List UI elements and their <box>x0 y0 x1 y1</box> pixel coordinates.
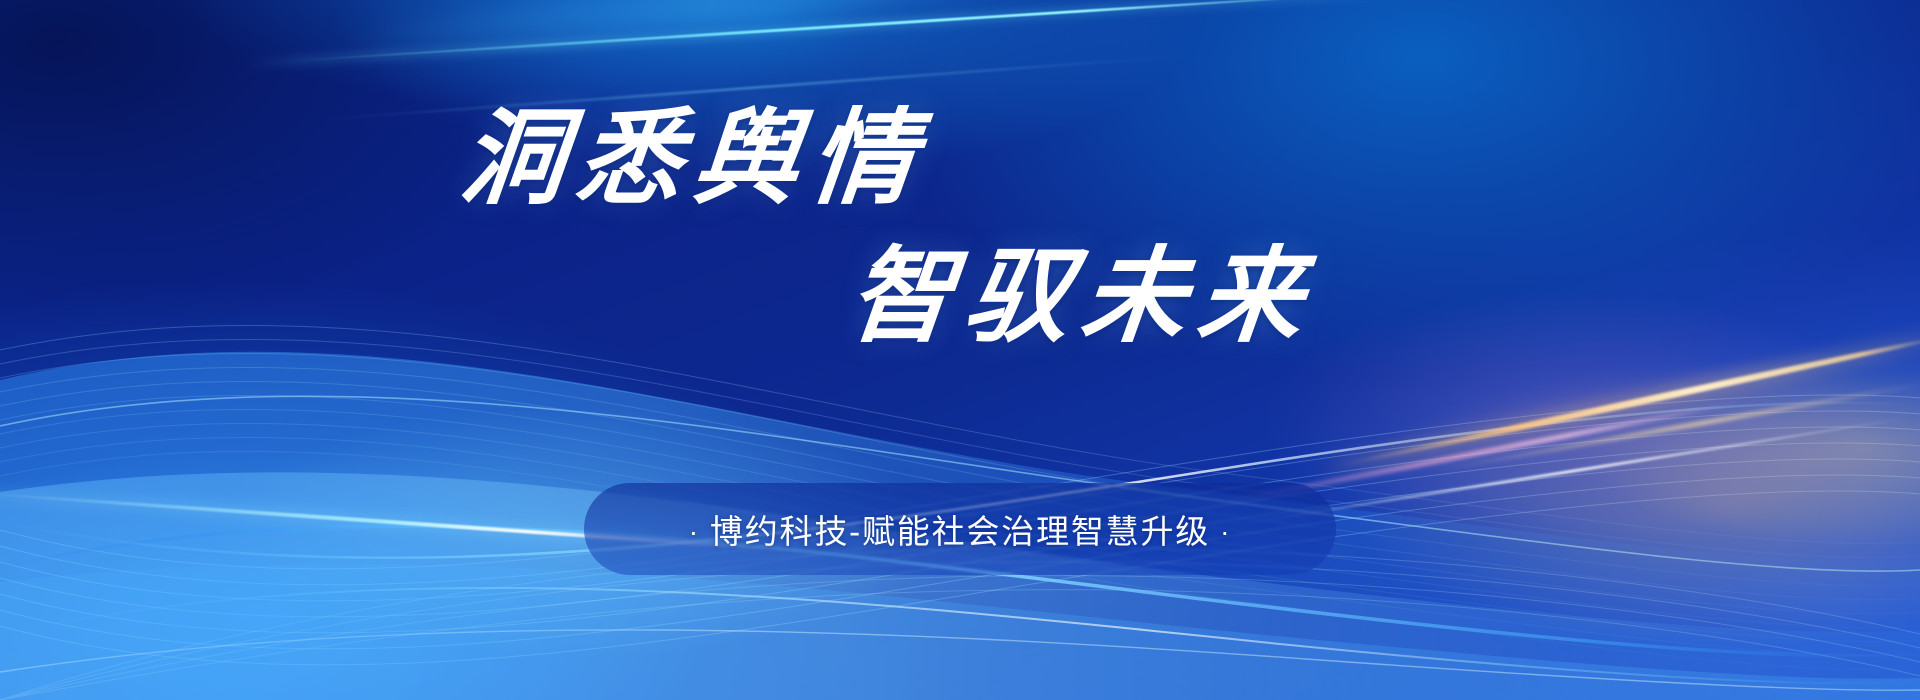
tagline-pill: ·博约科技-赋能社会治理智慧升级· <box>584 483 1336 575</box>
tagline-row: ·博约科技-赋能社会治理智慧升级· <box>679 505 1242 553</box>
banner-content: 洞悉舆情 智驭未来 ·博约科技-赋能社会治理智慧升级· <box>0 0 1920 700</box>
tagline-trail-dot: · <box>1210 516 1241 547</box>
headline-line-2: 智驭未来 <box>117 246 1920 350</box>
headline-block: 洞悉舆情 智驭未来 <box>0 108 1920 350</box>
hero-banner: 洞悉舆情 智驭未来 ·博约科技-赋能社会治理智慧升级· <box>0 0 1920 700</box>
tagline-text: 博约科技-赋能社会治理智慧升级 <box>710 513 1210 550</box>
tagline-lead-dot: · <box>679 516 710 547</box>
headline-line-1: 洞悉舆情 <box>0 108 1659 212</box>
